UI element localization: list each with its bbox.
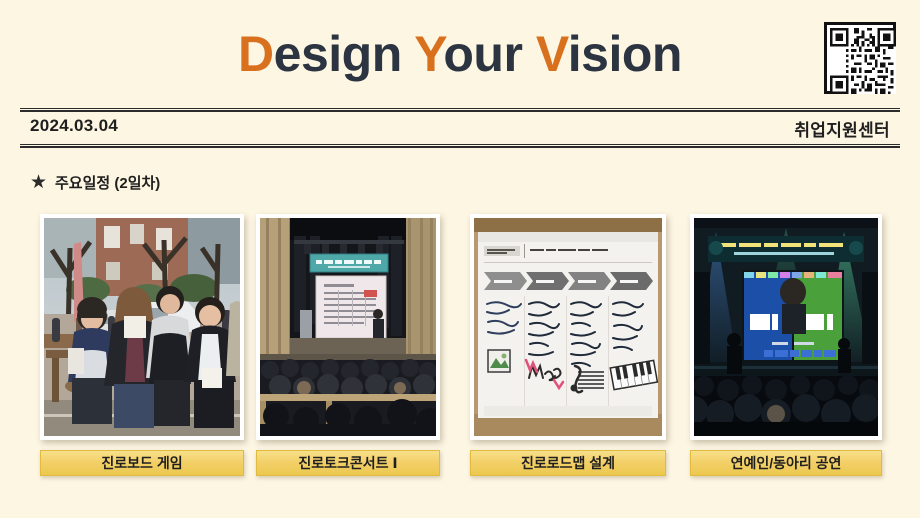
photo-frame <box>470 214 666 440</box>
photo-career-talk-concert-svg <box>260 218 436 436</box>
page-title: Design Your Vision <box>0 24 920 84</box>
photo-career-roadmap-svg <box>474 218 662 436</box>
qr-code[interactable] <box>819 17 901 99</box>
schedule-card[interactable]: 진로로드맵 설계 <box>470 214 666 476</box>
schedule-card-grid: 진로보드 게임 <box>0 214 920 476</box>
section-heading: ★ 주요일정 (2일차) <box>30 172 160 193</box>
schedule-card[interactable]: 진로보드 게임 <box>40 214 244 476</box>
photo-frame <box>40 214 244 440</box>
schedule-card[interactable]: 진로토크콘서트 Ⅰ <box>256 214 440 476</box>
title-part-3: our <box>443 26 535 82</box>
divider-top <box>20 108 900 112</box>
photo-career-board-game <box>44 218 240 436</box>
title-part-0: D <box>238 26 274 82</box>
photo-celebrity-club-performance-svg <box>694 218 878 436</box>
date-band: 2024.03.04 취업지원센터 <box>20 108 900 148</box>
card-caption: 진로보드 게임 <box>40 450 244 476</box>
qr-code-icon <box>824 22 896 94</box>
photo-frame <box>690 214 882 440</box>
photo-celebrity-club-performance <box>694 218 878 436</box>
photo-career-roadmap <box>474 218 662 436</box>
star-icon: ★ <box>30 174 47 191</box>
title-part-5: ision <box>568 26 682 82</box>
photo-frame <box>256 214 440 440</box>
title-part-1: esign <box>274 26 415 82</box>
organization-name: 취업지원센터 <box>794 116 890 141</box>
qr-code-svg <box>830 28 896 94</box>
section-heading-label: 주요일정 (2일차) <box>55 172 160 193</box>
card-caption: 진로로드맵 설계 <box>470 450 666 476</box>
photo-career-board-game-svg <box>44 218 240 436</box>
card-caption: 진로토크콘서트 Ⅰ <box>256 450 440 476</box>
poster-header: Design Your Vision <box>0 0 920 105</box>
schedule-card[interactable]: 연예인/동아리 공연 <box>690 214 882 476</box>
event-date: 2024.03.04 <box>30 116 118 136</box>
photo-career-talk-concert <box>260 218 436 436</box>
divider-bottom <box>20 144 900 148</box>
title-part-4: V <box>536 26 568 82</box>
card-caption: 연예인/동아리 공연 <box>690 450 882 476</box>
title-part-2: Y <box>414 26 443 82</box>
